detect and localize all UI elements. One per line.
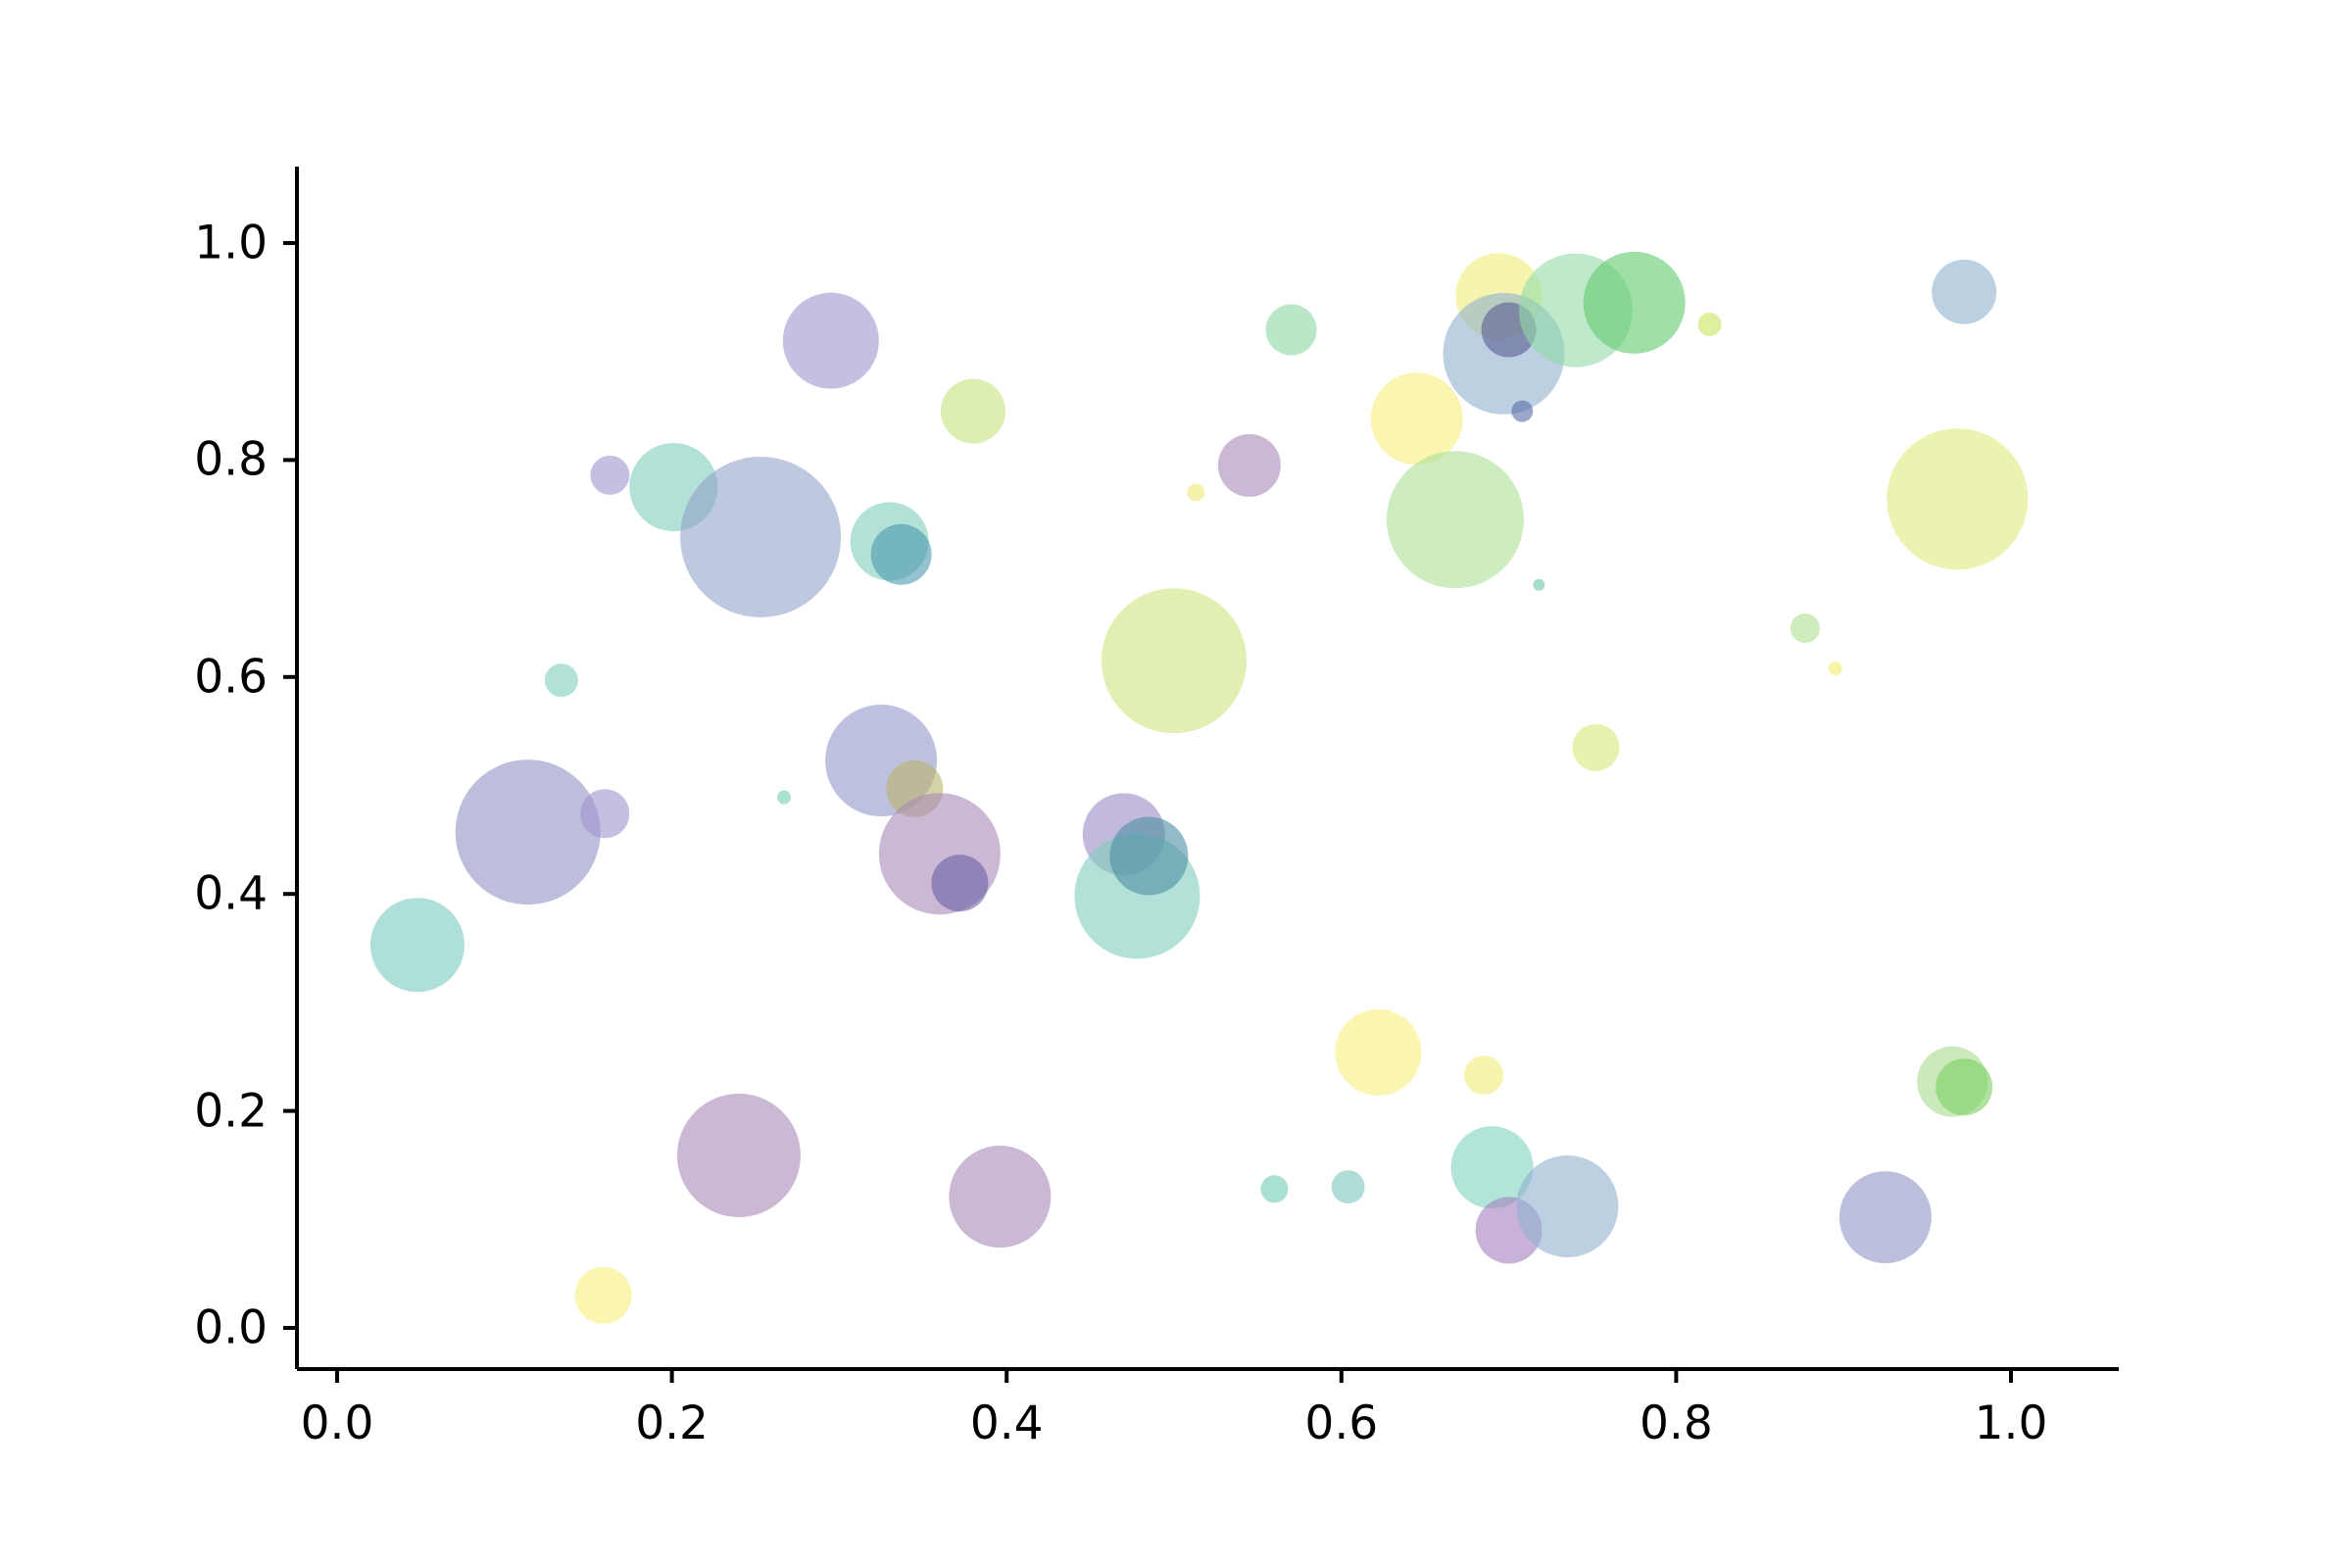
scatter-point — [949, 1146, 1051, 1248]
scatter-point — [1109, 816, 1188, 895]
scatter-point — [1335, 1009, 1421, 1096]
scatter-point — [1932, 260, 1996, 324]
scatter-point — [370, 898, 465, 992]
scatter-point — [1371, 372, 1463, 465]
scatter-point — [777, 791, 791, 805]
scatter-point — [545, 663, 578, 697]
scatter-point — [575, 1267, 632, 1324]
scatter-point — [1464, 1055, 1503, 1095]
scatter-point — [931, 855, 988, 911]
scatter-point — [1266, 305, 1317, 356]
bubble-series — [370, 252, 2028, 1324]
scatter-point — [871, 524, 932, 585]
scatter-point — [1533, 579, 1544, 591]
y-axis-tick-label: 1.0 — [194, 220, 268, 267]
scatter-point — [456, 759, 601, 905]
x-axis-tick-label: 0.4 — [970, 1400, 1044, 1446]
x-axis-tick-label: 0.0 — [301, 1400, 374, 1446]
axes-spines — [297, 167, 2119, 1369]
y-axis-tick-label: 0.6 — [194, 654, 268, 700]
x-axis-tick-label: 1.0 — [1975, 1400, 2048, 1446]
scatter-point — [580, 789, 629, 838]
figure-canvas: 0.00.20.40.60.81.0 0.00.20.40.60.81.0 — [0, 0, 2352, 1568]
y-axis-tick-label: 0.8 — [194, 437, 268, 483]
x-axis-tick-label: 0.6 — [1304, 1400, 1378, 1446]
x-axis-tick-label: 0.2 — [635, 1400, 709, 1446]
scatter-plot-svg — [0, 0, 2352, 1568]
scatter-point — [1511, 401, 1533, 422]
scatter-point — [1572, 724, 1619, 771]
scatter-point — [783, 293, 879, 389]
scatter-point — [1187, 484, 1204, 502]
scatter-point — [1516, 1155, 1618, 1257]
scatter-point — [590, 456, 629, 495]
scatter-point — [1332, 1170, 1365, 1203]
y-axis-tick-label: 0.4 — [194, 871, 268, 917]
scatter-point — [1935, 1058, 1992, 1115]
scatter-point — [677, 1094, 801, 1217]
scatter-point — [1839, 1171, 1932, 1263]
y-axis-tick-label: 0.0 — [194, 1305, 268, 1351]
scatter-point — [1698, 313, 1722, 336]
scatter-point — [680, 457, 841, 617]
scatter-point — [1102, 588, 1247, 733]
scatter-point — [1584, 252, 1686, 354]
y-axis-tick-label: 0.2 — [194, 1088, 268, 1134]
scatter-point — [1886, 428, 2028, 569]
scatter-point — [941, 379, 1005, 444]
scatter-point — [1387, 451, 1524, 588]
scatter-point — [1829, 661, 1842, 675]
scatter-point — [1790, 613, 1820, 643]
x-axis-tick-label: 0.8 — [1640, 1400, 1713, 1446]
scatter-point — [1218, 434, 1281, 497]
scatter-point — [1260, 1175, 1288, 1202]
